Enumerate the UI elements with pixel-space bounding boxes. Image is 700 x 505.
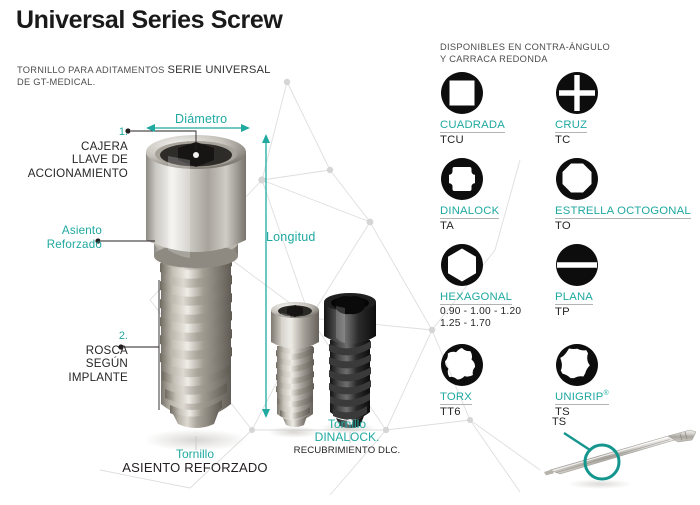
screwdriver-callout-label: TS	[552, 416, 566, 428]
annotation-asiento-line-1: Asiento	[10, 224, 102, 238]
driver-name-unigrip-text: UNIGRIP	[555, 391, 603, 403]
driver-name-dinalock: DINALOCK	[440, 205, 499, 219]
driver-type-grid: CUADRADA TCU CRUZ TC	[440, 70, 698, 418]
driver-name-torx: TORX	[440, 391, 472, 405]
annotation-cajera: 1. CAJERA LLAVE DE ACCIONAMIENTO	[10, 126, 128, 180]
driver-name-unigrip: UNIGRIP®	[555, 390, 609, 405]
caption-screw-dinalock: Tornillo DINALOCK. RECUBRIMIENTO DLC.	[272, 418, 422, 457]
right-panel-heading-line-1: DISPONIBLES EN CONTRA-ÁNGULO	[440, 41, 610, 53]
trademark-symbol: ®	[603, 390, 608, 397]
driver-name-estrella-octogonal: ESTRELLA OCTOGONAL	[555, 205, 691, 219]
driver-item-plana[interactable]: PLANA TP	[555, 242, 698, 342]
dimension-label-diameter: Diámetro	[175, 112, 227, 126]
driver-item-unigrip[interactable]: UNIGRIP® TS	[555, 342, 698, 418]
annotation-asiento: Asiento Reforzado	[10, 224, 102, 251]
driver-code-estrella-octogonal: TO	[555, 220, 698, 232]
driver-item-torx[interactable]: TORX TT6	[440, 342, 555, 418]
driver-code-cuadrada: TCU	[440, 134, 555, 146]
octagon-socket-icon	[555, 156, 698, 201]
driver-item-cruz[interactable]: CRUZ TC	[555, 70, 698, 156]
driver-code-torx: TT6	[440, 406, 555, 418]
torx-socket-icon	[440, 342, 555, 387]
driver-row-3: HEXAGONAL 0.90 - 1.00 - 1.20 1.25 - 1.70…	[440, 242, 698, 342]
driver-item-hexagonal[interactable]: HEXAGONAL 0.90 - 1.00 - 1.20 1.25 - 1.70	[440, 242, 555, 342]
intro-line-2: DE GT-MEDICAL.	[17, 76, 271, 88]
intro-series-name: SERIE UNIVERSAL	[167, 64, 270, 76]
unigrip-socket-icon	[555, 342, 698, 387]
right-panel-heading: DISPONIBLES EN CONTRA-ÁNGULO Y CARRACA R…	[440, 41, 610, 65]
driver-code-unigrip: TS	[555, 406, 698, 418]
driver-row-4: TORX TT6 UNIGRIP® TS	[440, 342, 698, 418]
driver-name-hexagonal: HEXAGONAL	[440, 291, 512, 305]
annotation-cajera-number: 1.	[10, 126, 128, 140]
annotation-rosca-line-2: SEGÚN	[10, 357, 128, 371]
right-panel-heading-line-2: Y CARRACA REDONDA	[440, 53, 610, 65]
annotation-rosca-number: 2.	[10, 330, 128, 344]
screwdriver-icon	[540, 420, 700, 500]
caption-right-line-3: RECUBRIMIENTO DLC.	[272, 444, 422, 457]
page-title: Universal Series Screw	[16, 6, 282, 35]
driver-row-2: DINALOCK TA ESTRELLA OCTOGONAL TO	[440, 156, 698, 242]
driver-item-cuadrada[interactable]: CUADRADA TCU	[440, 70, 555, 156]
driver-item-dinalock[interactable]: DINALOCK TA	[440, 156, 555, 242]
driver-name-cruz: CRUZ	[555, 119, 587, 133]
driver-code-cruz: TC	[555, 134, 698, 146]
driver-name-cuadrada: CUADRADA	[440, 119, 505, 133]
annotation-cajera-line-1: CAJERA	[10, 140, 128, 154]
driver-name-plana: PLANA	[555, 291, 593, 305]
flat-socket-icon	[555, 242, 698, 287]
square-socket-icon	[440, 70, 555, 115]
intro-text-1: TORNILLO PARA ADITAMENTOS	[17, 65, 165, 75]
caption-right-line-2: DINALOCK.	[272, 431, 422, 444]
annotation-rosca-line-1: ROSCA	[10, 344, 128, 358]
annotation-cajera-line-3: ACCIONAMIENTO	[10, 167, 128, 181]
caption-screw-reinforced: Tornillo ASIENTO REFORZADO	[110, 448, 280, 474]
hexagon-socket-icon	[440, 242, 555, 287]
intro-line-1: TORNILLO PARA ADITAMENTOS SERIE UNIVERSA…	[17, 64, 271, 76]
screwdriver-illustration: TS	[540, 420, 700, 500]
annotation-rosca-line-3: IMPLANTE	[10, 371, 128, 385]
driver-row-1: CUADRADA TCU CRUZ TC	[440, 70, 698, 156]
driver-code-plana: TP	[555, 306, 698, 318]
driver-code-dinalock: TA	[440, 220, 555, 232]
annotation-rosca: 2. ROSCA SEGÚN IMPLANTE	[10, 330, 128, 384]
dimension-label-length: Longitud	[266, 230, 316, 244]
driver-sizes-hexagonal: 0.90 - 1.00 - 1.20 1.25 - 1.70	[440, 306, 555, 329]
annotation-cajera-line-2: LLAVE DE	[10, 153, 128, 167]
caption-left-line-2: ASIENTO REFORZADO	[110, 461, 280, 474]
intro-caption: TORNILLO PARA ADITAMENTOS SERIE UNIVERSA…	[17, 64, 271, 88]
dinalock-socket-icon	[440, 156, 555, 201]
cross-socket-icon	[555, 70, 698, 115]
poster-root: Universal Series Screw TORNILLO PARA ADI…	[0, 0, 700, 500]
driver-item-estrella-octogonal[interactable]: ESTRELLA OCTOGONAL TO	[555, 156, 698, 242]
annotation-asiento-line-2: Reforzado	[10, 238, 102, 252]
